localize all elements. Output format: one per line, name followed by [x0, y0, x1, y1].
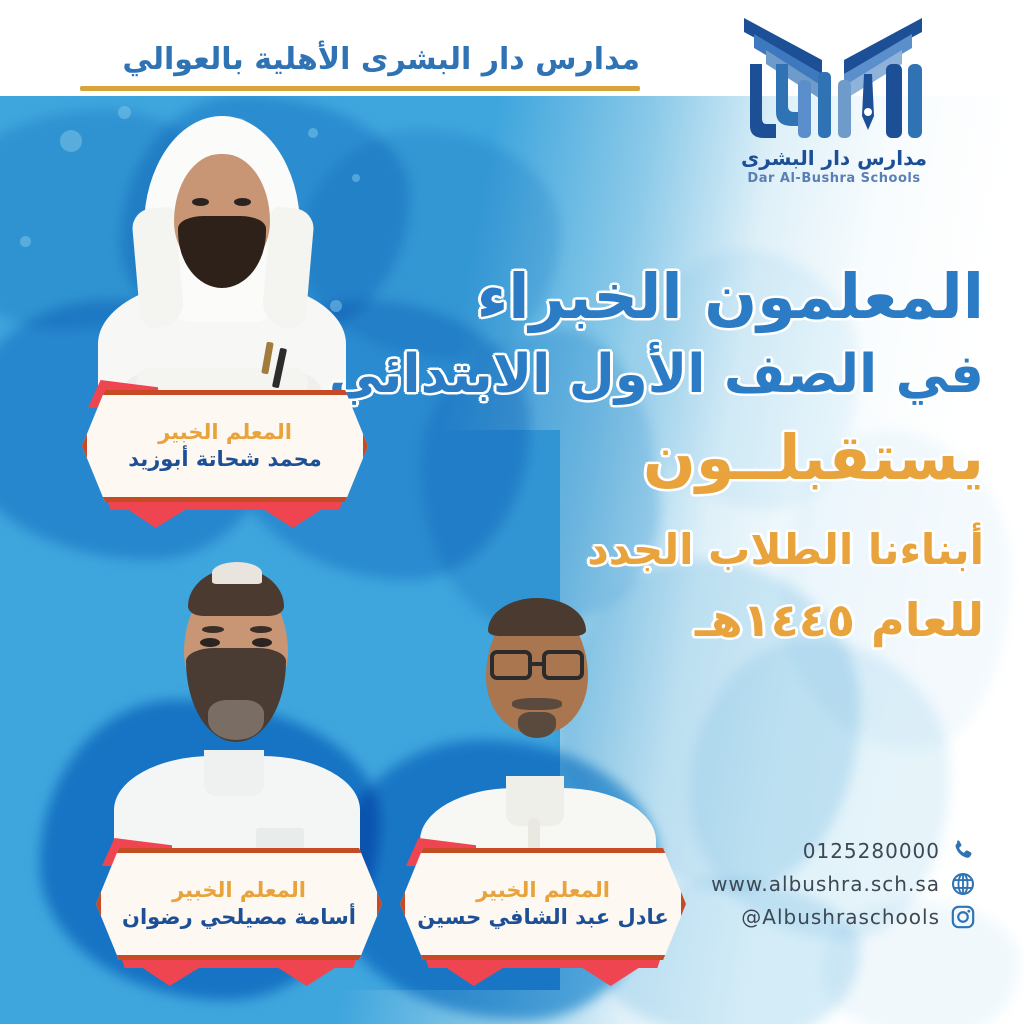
contact-instagram-row[interactable]: @Albushraschools — [686, 904, 976, 930]
contact-phone-row[interactable]: 0125280000 — [686, 838, 976, 864]
headline-line-1: المعلمون الخبراء — [344, 262, 984, 331]
poster-canvas: مدارس دار البشرى الأهلية بالعوالي — [0, 0, 1024, 1024]
contact-block: 0125280000 www.albushra.sch.sa @Albushra… — [686, 838, 976, 937]
headline-line-4: أبناءنا الطلاب الجدد — [344, 526, 984, 573]
logo-name-arabic: مدارس دار البشرى — [724, 146, 944, 170]
headline-line-3: يستقبلــون — [344, 423, 984, 492]
badge-role-label: المعلم الخبير — [476, 878, 610, 902]
badge-role-label: المعلم الخبير — [158, 420, 292, 444]
contact-phone-text: 0125280000 — [803, 839, 940, 863]
headline-line-5: للعام ١٤٤٥هـ — [344, 595, 984, 647]
watercolor-droplet — [60, 130, 82, 152]
badge-teacher-name: أسامة مصيلحي رضوان — [122, 905, 356, 930]
page-title: مدارس دار البشرى الأهلية بالعوالي — [80, 42, 640, 77]
school-logo: مدارس دار البشرى Dar Al-Bushra Schools — [724, 12, 944, 197]
badge-role-label: المعلم الخبير — [172, 878, 306, 902]
contact-website-text: www.albushra.sch.sa — [711, 872, 940, 896]
teacher-badge-1: المعلم الخبير محمد شحاتة أبوزيد — [82, 390, 368, 502]
badge-teacher-name: عادل عبد الشافي حسين — [417, 905, 669, 930]
contact-instagram-text: @Albushraschools — [741, 905, 940, 929]
badge-teacher-name: محمد شحاتة أبوزيد — [128, 447, 322, 472]
badge-plate: المعلم الخبير أسامة مصيلحي رضوان — [96, 848, 382, 960]
logo-name-english: Dar Al-Bushra Schools — [724, 171, 944, 186]
badge-plate: المعلم الخبير عادل عبد الشافي حسين — [400, 848, 686, 960]
contact-website-row[interactable]: www.albushra.sch.sa — [686, 871, 976, 897]
teacher-badge-3: المعلم الخبير عادل عبد الشافي حسين — [400, 848, 686, 960]
badge-plate: المعلم الخبير محمد شحاتة أبوزيد — [82, 390, 368, 502]
title-underline-rule — [80, 86, 640, 91]
open-book-logo-icon — [736, 12, 932, 144]
phone-icon — [950, 838, 976, 864]
globe-icon — [950, 871, 976, 897]
watercolor-droplet — [20, 236, 31, 247]
headline-line-2: في الصف الأول الابتدائي — [344, 345, 984, 404]
headline-block: المعلمون الخبراء في الصف الأول الابتدائي… — [344, 262, 984, 647]
instagram-icon — [950, 904, 976, 930]
teacher-badge-2: المعلم الخبير أسامة مصيلحي رضوان — [96, 848, 382, 960]
